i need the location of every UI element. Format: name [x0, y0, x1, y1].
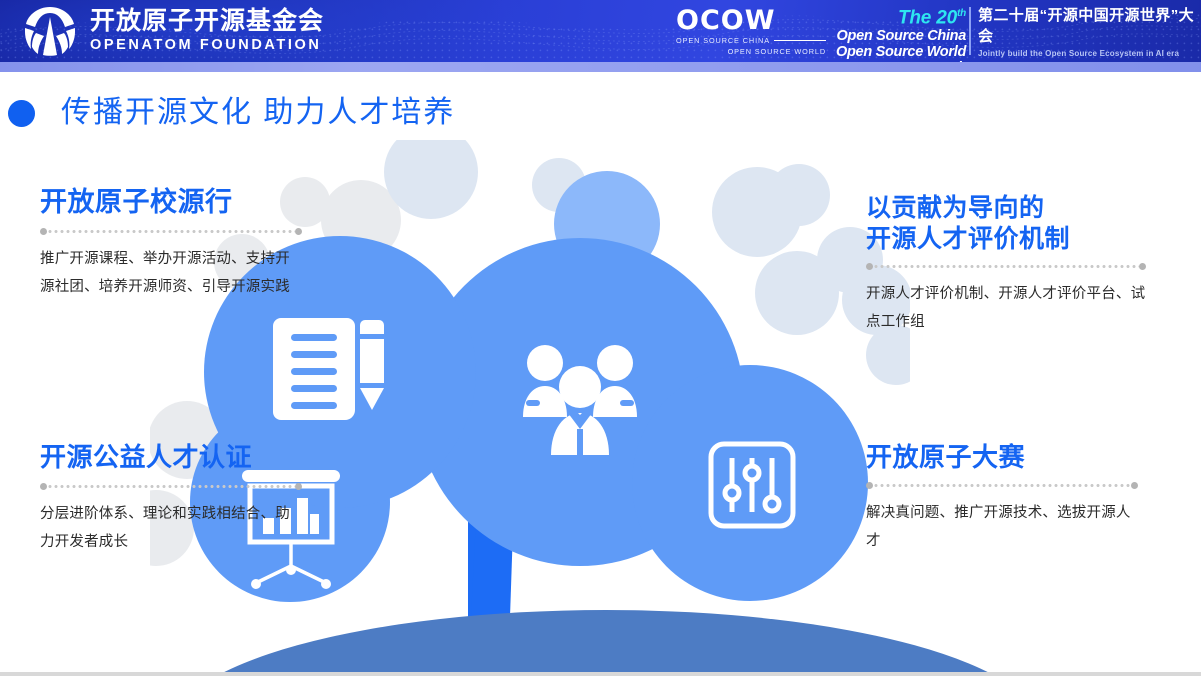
summit-edition-prefix: The 20: [898, 7, 957, 28]
feature-description: 推广开源课程、举办开源活动、支持开源社团、培养开源师资、引导开源实践: [40, 245, 302, 301]
ocow-rule: [774, 40, 826, 42]
feature-title: 开放原子大赛: [866, 440, 1138, 474]
header-accent-strip: [0, 62, 1201, 72]
feature-talent-certification: 开源公益人才认证 分层进阶体系、理论和实践相结合、助力开发者成长: [40, 440, 302, 556]
brand-lockup: 开放原子开源基金会 OPENATOM FOUNDATION: [22, 4, 324, 58]
dot-run-icon: [873, 265, 1139, 268]
dot-run-icon: [47, 230, 295, 233]
feature-description: 开源人才评价机制、开源人才评价平台、试点工作组: [866, 280, 1146, 336]
ocow-wordmark: OCOW: [676, 7, 826, 35]
dot-cap-right-icon: [1131, 482, 1138, 489]
feature-title-line-2: 开源人才评价机制: [866, 224, 1146, 255]
feature-openatom-contest: 开放原子大赛 解决真问题、推广开源技术、选拔开源人才: [866, 440, 1138, 555]
ocow-logo: OCOW OPEN SOURCE CHINA OPEN SOURCE WORLD: [676, 7, 826, 57]
feature-campus-tour: 开放原子校源行 推广开源课程、举办开源活动、支持开源社团、培养开源师资、引导开源…: [40, 185, 302, 301]
dot-cap-right-icon: [295, 483, 302, 490]
baseline-divider: [0, 672, 1201, 676]
brand-name-en: OPENATOM FOUNDATION: [90, 36, 324, 55]
dot-cap-right-icon: [295, 228, 302, 235]
dot-run-icon: [873, 484, 1131, 487]
summit-edition-suffix: th: [957, 8, 966, 19]
openatom-dome-icon: [22, 4, 78, 58]
feature-talent-evaluation: 以贡献为导向的 开源人才评价机制 开源人才评价机制、开源人才评价平台、试点工作组: [866, 193, 1146, 336]
ocow-subline-1: OPEN SOURCE CHINA: [676, 35, 770, 46]
dotted-divider: [40, 483, 302, 490]
feature-description: 解决真问题、推广开源技术、选拔开源人才: [866, 499, 1138, 555]
feature-description: 分层进阶体系、理论和实践相结合、助力开发者成长: [40, 500, 302, 556]
feature-title-line-1: 以贡献为导向的: [866, 193, 1146, 224]
dot-cap-left-icon: [40, 483, 47, 490]
dotted-divider: [866, 263, 1146, 270]
ocow-subline-1-wrap: OPEN SOURCE CHINA: [676, 35, 826, 46]
feature-title: 开源公益人才认证: [40, 440, 302, 474]
title-dot-primary-icon: [8, 100, 35, 127]
summit-line-3: Open Source World Summit: [832, 44, 966, 62]
page-title: 传播开源文化 助力人才培养: [61, 93, 455, 133]
page-header: 开放原子开源基金会 OPENATOM FOUNDATION OCOW OPEN …: [0, 0, 1201, 62]
summit-edition-number: The 20th: [832, 4, 966, 28]
summit-edition-block: The 20th Open Source China Open Source W…: [832, 4, 966, 58]
conference-tagline-en: Jointly build the Open Source Ecosystem …: [978, 47, 1196, 60]
feature-title: 开放原子校源行: [40, 185, 302, 219]
dot-cap-left-icon: [866, 263, 873, 270]
summit-line-2: Open Source China: [832, 28, 966, 44]
slide-canvas: 开放原子开源基金会 OPENATOM FOUNDATION OCOW OPEN …: [0, 0, 1201, 676]
header-divider: [969, 7, 971, 55]
conference-title-cn: 第二十届“开源中国开源世界”大会: [978, 5, 1196, 47]
conference-block: 第二十届“开源中国开源世界”大会 Jointly build the Open …: [978, 5, 1196, 59]
slide-title-row: 传播开源文化 助力人才培养: [20, 90, 455, 136]
dot-cap-left-icon: [866, 482, 873, 489]
ocow-subline-2: OPEN SOURCE WORLD: [676, 46, 826, 58]
dot-run-icon: [47, 485, 295, 488]
dotted-divider: [40, 228, 302, 235]
dotted-divider: [866, 482, 1138, 489]
brand-name-cn: 开放原子开源基金会: [90, 7, 324, 36]
dot-cap-right-icon: [1139, 263, 1146, 270]
dot-cap-left-icon: [40, 228, 47, 235]
